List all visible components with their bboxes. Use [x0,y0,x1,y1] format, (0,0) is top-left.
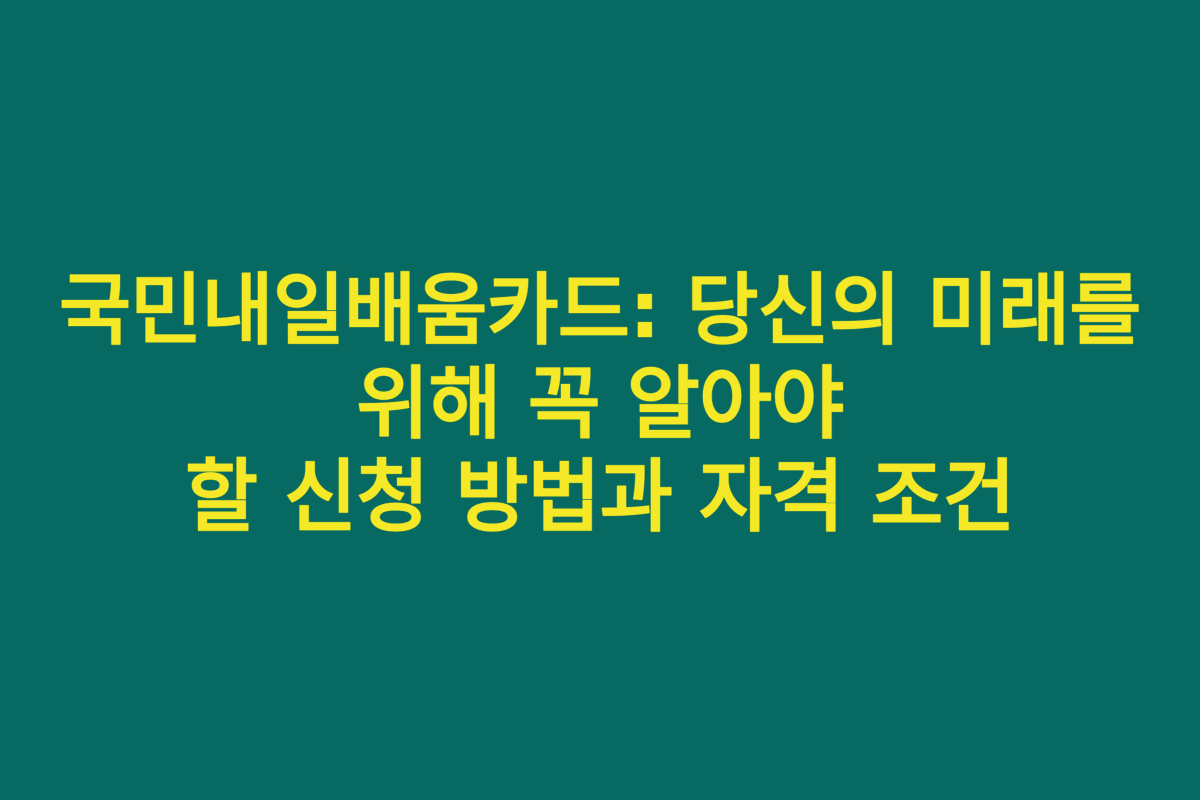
headline-line-3: 할 신청 방법과 자격 조건 [14,451,1186,544]
headline-line-1: 국민내일배움카드: 당신의 미래를 [14,265,1186,358]
headline-block: 국민내일배움카드: 당신의 미래를 위해 꼭 알아야 할 신청 방법과 자격 조… [0,265,1200,544]
poster-canvas: 국민내일배움카드: 당신의 미래를 위해 꼭 알아야 할 신청 방법과 자격 조… [0,0,1200,800]
headline-line-2: 위해 꼭 알아야 [14,358,1186,451]
